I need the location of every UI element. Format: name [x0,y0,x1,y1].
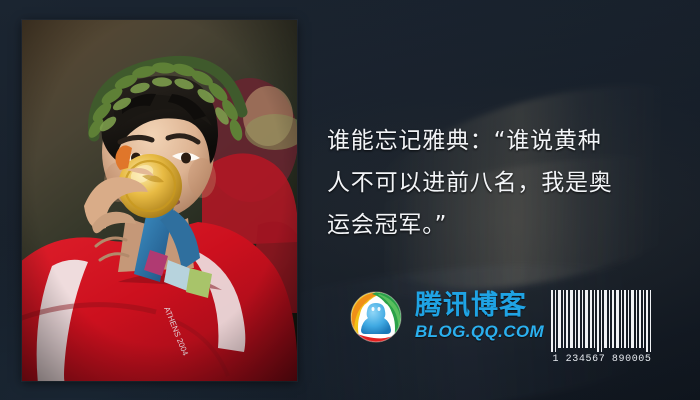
qq-blog-brand[interactable]: 腾讯博客 BLOG.QQ.COM [345,286,544,348]
brand-wordmark: 腾讯博客 BLOG.QQ.COM [415,292,544,342]
qq-logo-icon [345,286,407,348]
barcode: 1 234567 890005 [549,288,655,366]
barcode-digits: 1 234567 890005 [552,354,651,365]
poster-canvas: ATHENS 2004 谁能忘记雅典：“谁说黄种 人不可以进前八名，我是奥 运会… [0,0,700,400]
quote-line-1: 谁能忘记雅典：“谁说黄种 [327,120,677,162]
quote-block: 谁能忘记雅典：“谁说黄种 人不可以进前八名，我是奥 运会冠军。” [327,120,677,246]
brand-url: BLOG.QQ.COM [415,322,544,342]
quote-line-3: 运会冠军。” [327,204,677,246]
athlete-photo: ATHENS 2004 [22,20,297,381]
brand-name-cn: 腾讯博客 [415,292,544,320]
quote-line-2: 人不可以进前八名，我是奥 [327,162,677,204]
